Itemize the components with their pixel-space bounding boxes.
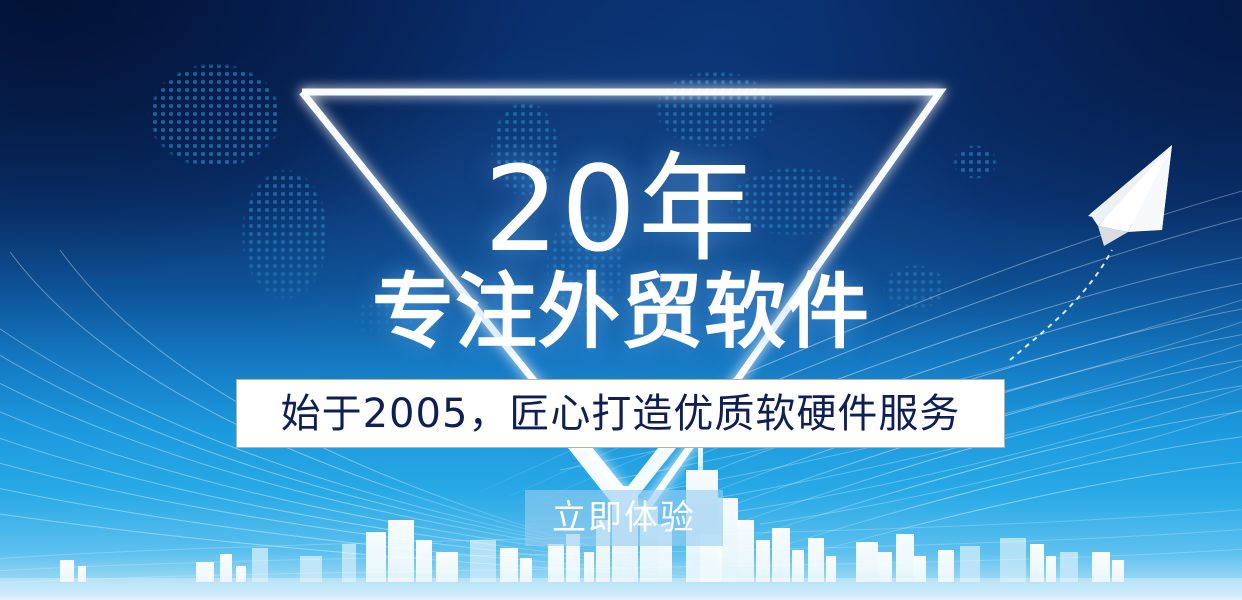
headline-number: 20年 bbox=[0, 150, 1242, 268]
headline-block: 20年 专注外贸软件 始于2005，匠心打造优质软硬件服务 立即体验 bbox=[0, 0, 1242, 600]
cta-button-label: 立即体验 bbox=[552, 501, 696, 535]
cta-button[interactable]: 立即体验 bbox=[525, 490, 723, 546]
tagline-bar: 始于2005，匠心打造优质软硬件服务 bbox=[236, 379, 1005, 448]
headline-subtitle: 专注外贸软件 bbox=[0, 272, 1242, 354]
promo-banner: 20年 专注外贸软件 始于2005，匠心打造优质软硬件服务 立即体验 bbox=[0, 0, 1242, 600]
tagline-text: 始于2005，匠心打造优质软硬件服务 bbox=[281, 394, 961, 434]
